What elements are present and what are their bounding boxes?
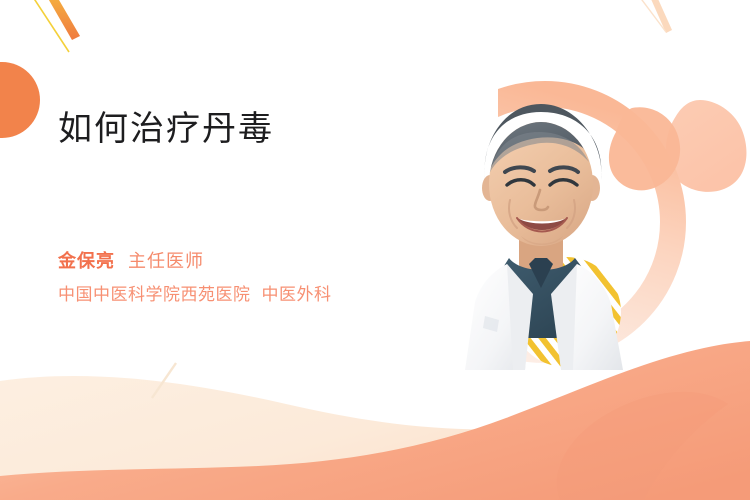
diagonal-stripe-peach-icon [636, 0, 672, 33]
doctor-article-banner: 如何治疗丹毒 金保亮主任医师 中国中医科学院西苑医院中医外科 [0, 0, 750, 500]
doctor-name: 金保亮 [58, 251, 115, 271]
doctor-affiliation-row: 中国中医科学院西苑医院中医外科 [58, 282, 332, 308]
doctor-portrait [455, 88, 630, 370]
doctor-department: 中医外科 [262, 285, 332, 304]
doctor-name-row: 金保亮主任医师 [58, 248, 332, 275]
doctor-job-title: 主任医师 [128, 251, 204, 271]
portrait-clip [455, 88, 630, 370]
portrait-illustration [455, 88, 630, 370]
doctor-info-block: 金保亮主任医师 中国中医科学院西苑医院中医外科 [58, 248, 332, 308]
circle-orange-icon [0, 62, 40, 138]
page-title: 如何治疗丹毒 [58, 108, 478, 151]
doctor-hospital: 中国中医科学院西苑医院 [58, 285, 251, 304]
title-block: 如何治疗丹毒 [58, 108, 478, 151]
